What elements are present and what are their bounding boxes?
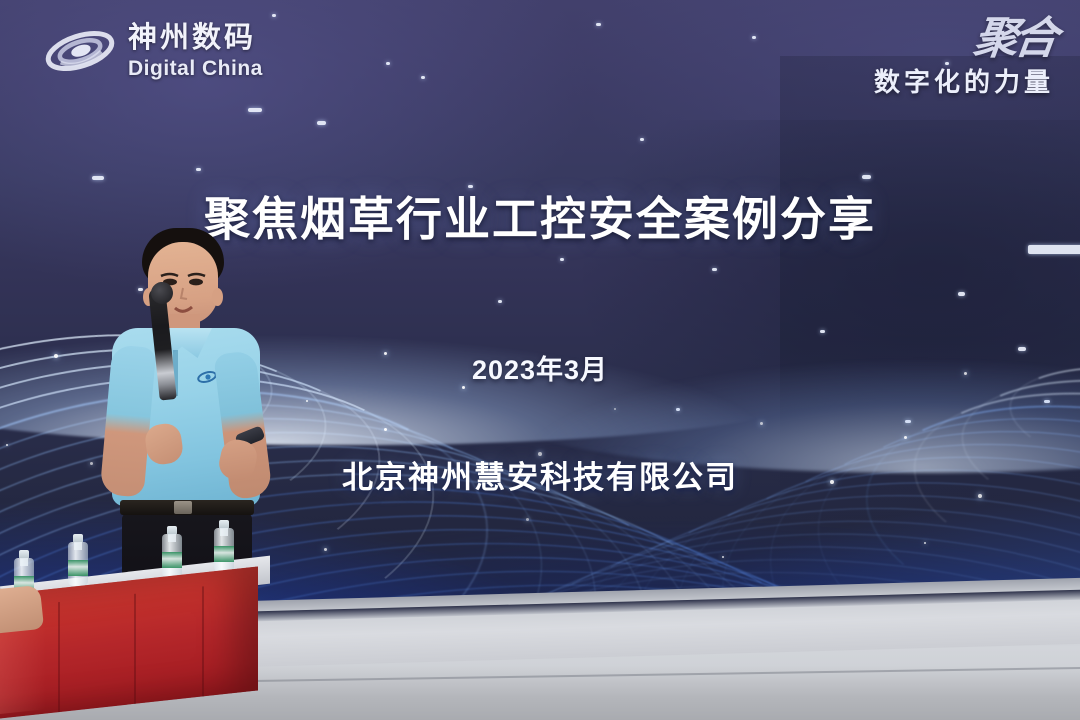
- water-bottle: [214, 528, 234, 572]
- bottle-label: [68, 560, 88, 576]
- digital-china-logo-block: 神州数码 Digital China: [44, 20, 263, 82]
- digital-china-swirl-logo-icon: [44, 20, 116, 82]
- slogan-calligraphy: 聚合: [971, 18, 1056, 60]
- light-particle: [196, 168, 201, 171]
- light-particle: [560, 258, 564, 261]
- bottle-neck: [74, 542, 82, 550]
- sparkle-dot: [904, 436, 907, 439]
- attendee-hand: [0, 585, 44, 635]
- light-particle: [421, 76, 425, 79]
- logo-wordmark: 神州数码 Digital China: [128, 24, 263, 79]
- sparkle-dot: [384, 428, 387, 431]
- light-particle: [958, 292, 965, 296]
- bottle-neck: [220, 528, 228, 536]
- presenter-belt-buckle: [174, 501, 192, 514]
- sparkle-dot: [760, 422, 763, 425]
- light-particle: [498, 300, 502, 303]
- light-particle: [272, 14, 276, 17]
- logo-name-cn: 神州数码: [128, 24, 263, 53]
- bottle-neck: [168, 534, 176, 542]
- light-particle: [248, 108, 262, 112]
- front-table: [0, 568, 270, 720]
- sparkle-dot: [614, 408, 616, 410]
- sparkle-dot: [722, 556, 724, 558]
- sparkle-dot: [924, 542, 926, 544]
- light-particle: [596, 23, 601, 26]
- logo-name-en: Digital China: [128, 58, 263, 79]
- sparkle-dot: [526, 518, 529, 521]
- light-particle: [640, 138, 644, 141]
- cloth-fold: [58, 602, 60, 712]
- event-slogan-block: 聚合 数字化的力量: [874, 18, 1054, 99]
- sparkle-dot: [306, 400, 308, 402]
- bottle-neck: [20, 558, 28, 566]
- bottle-label: [214, 546, 234, 562]
- light-particle: [317, 121, 326, 125]
- light-particle: [752, 36, 756, 39]
- cloth-fold: [134, 594, 136, 704]
- light-particle: [386, 62, 390, 65]
- sparkle-dot: [6, 444, 8, 446]
- sparkle-dot: [324, 548, 327, 551]
- bottle-label: [162, 552, 182, 568]
- light-particle: [92, 176, 104, 180]
- light-particle: [712, 268, 717, 271]
- slogan-subtitle: 数字化的力量: [874, 62, 1054, 99]
- conference-photo: 神州数码 Digital China 聚合 数字化的力量 聚焦烟草行业工控安全案…: [0, 0, 1080, 720]
- slogan-calligraphy-line: 聚合: [874, 18, 1054, 60]
- water-bottle: [162, 534, 182, 578]
- water-bottle: [68, 542, 88, 586]
- light-particle: [862, 175, 871, 179]
- cloth-fold: [202, 586, 204, 696]
